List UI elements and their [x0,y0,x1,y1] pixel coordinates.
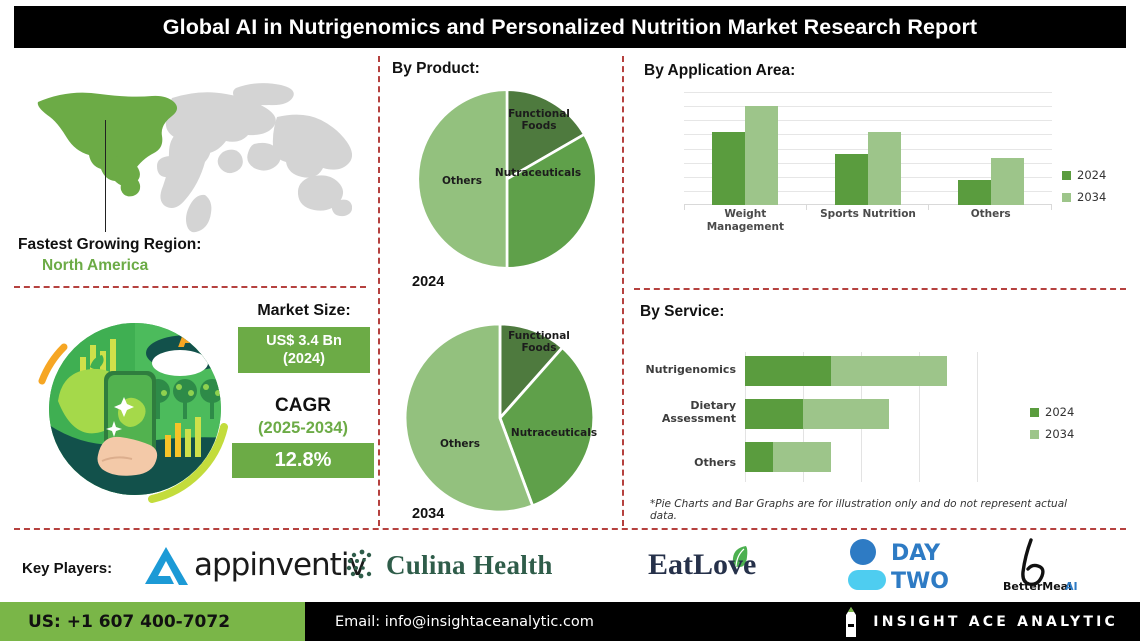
service-legend-item-2024: 2024 [1030,405,1074,419]
bar-weight-management-2024 [712,132,745,205]
logo-appinventiv-text: appinventiv [194,547,366,583]
logo-culina-health: Culina Health [345,548,553,582]
key-players-label: Key Players: [22,560,112,577]
fastest-region-label: Fastest Growing Region: [18,236,318,254]
svg-text:AI: AI [1065,580,1078,593]
svg-text:TWO: TWO [891,569,949,594]
legend-label-2034: 2034 [1077,190,1106,204]
service-legend-swatch-2034 [1030,430,1039,439]
world-map [22,72,352,237]
footer-phone-block: US: +1 607 400-7072 [0,602,305,641]
divider-horizontal-bottom [14,528,1126,530]
bar-others-2034 [991,158,1024,205]
section-title-by-service: By Service: [640,303,724,321]
bar-group-weight-management [684,92,807,205]
pie-2024-label-functional-foods: Functional Foods [500,108,578,132]
service-stacked-bar-chart [745,352,977,476]
legend-swatch-2024 [1062,171,1071,180]
appinventiv-mark-icon [140,543,192,587]
bar-group-others [929,92,1052,205]
ai-nutrition-illustration: AI [28,305,242,517]
legend-item-2034: 2034 [1062,190,1106,204]
application-area-legend: 2024 2034 [1062,168,1106,204]
logo-daytwo: DAY TWO [845,538,973,594]
stacked-seg-others-2024 [745,442,773,472]
pie-2034-year: 2034 [412,506,444,522]
logo-eatlove: EatLove [648,548,750,582]
fastest-growing-region: Fastest Growing Region: North America [18,236,318,275]
pie-2034-label-functional-foods: Functional Foods [500,330,578,354]
pie-2024-year: 2024 [412,274,444,290]
market-size-title: Market Size: [238,302,370,320]
bar-weight-management-2034 [745,106,778,205]
service-legend-swatch-2024 [1030,408,1039,417]
stacked-seg-dietary-2034 [803,399,889,429]
service-label-nutrigenomics: Nutrigenomics [636,363,736,376]
market-size-value-box: US$ 3.4 Bn (2024) [238,327,370,373]
svg-text:BetterMeal: BetterMeal [1003,580,1072,593]
culina-mark-icon [345,548,379,582]
stacked-seg-dietary-2024 [745,399,803,429]
legend-swatch-2034 [1062,193,1071,202]
section-title-by-product: By Product: [392,60,480,78]
pie-2024-label-others: Others [430,175,494,187]
category-label-weight-management: Weight Management [684,208,807,234]
legend-label-2024: 2024 [1077,168,1106,182]
footer-bar: US: +1 607 400-7072 Email: info@insighta… [0,602,1140,641]
logo-appinventiv: appinventiv [140,543,366,587]
category-label-others: Others [929,208,1052,234]
divider-vertical-right [622,56,624,526]
daytwo-mark-icon: DAY TWO [845,538,973,594]
chart-disclaimer-note: *Pie Charts and Bar Graphs are for illus… [650,498,1070,522]
bar-others-2024 [958,180,991,205]
cagr-years: (2025-2034) [232,419,374,438]
insightace-logo-icon [841,607,861,637]
footer-phone: US: +1 607 400-7072 [28,612,230,632]
application-area-bar-chart [684,92,1052,205]
cagr-title: CAGR [232,395,374,417]
market-size-block: Market Size: US$ 3.4 Bn (2024) [238,302,370,373]
svg-text:DAY: DAY [891,541,941,566]
category-label-sports-nutrition: Sports Nutrition [807,208,930,234]
service-legend-label-2024: 2024 [1045,405,1074,419]
divider-vertical-left [378,56,380,526]
infographic-page: Global AI in Nutrigenomics and Personali… [0,0,1140,641]
footer-brand: INSIGHT ACE ANALYTIC [841,607,1118,637]
page-title: Global AI in Nutrigenomics and Personali… [163,15,977,40]
footer-brand-name: INSIGHT ACE ANALYTIC [873,614,1118,630]
map-leader-line [105,120,106,232]
bar-sports-nutrition-2024 [835,154,868,205]
service-legend: 2024 2034 [1030,405,1074,441]
service-label-dietary-assessment: Dietary Assessment [636,399,736,425]
logo-culina-text: Culina Health [386,550,553,581]
cagr-value-box: 12.8% [232,443,374,478]
header-bar: Global AI in Nutrigenomics and Personali… [14,6,1126,48]
pie-2034-label-nutraceuticals: Nutraceuticals [505,427,603,439]
bar-sports-nutrition-2034 [868,132,901,205]
service-legend-label-2034: 2034 [1045,427,1074,441]
stacked-seg-nutrigenomics-2024 [745,356,831,386]
svg-text:AI: AI [178,320,212,355]
bar-group-sports-nutrition [807,92,930,205]
stacked-bar-nutrigenomics [745,356,977,386]
service-legend-item-2034: 2034 [1030,427,1074,441]
market-size-year: (2024) [283,350,325,368]
stacked-bar-dietary-assessment [745,399,977,429]
stacked-bar-others [745,442,977,472]
footer-email[interactable]: Email: info@insightaceanalytic.com [335,614,594,630]
pie-2024-label-nutraceuticals: Nutraceuticals [490,167,586,179]
application-area-category-labels: Weight Management Sports Nutrition Other… [684,208,1052,234]
service-label-others: Others [636,456,736,469]
section-title-by-application: By Application Area: [644,62,795,80]
bettermeal-mark-icon: BetterMeal AI [985,538,1095,594]
stacked-seg-nutrigenomics-2034 [831,356,947,386]
stacked-seg-others-2034 [773,442,831,472]
legend-item-2024: 2024 [1062,168,1106,182]
cagr-value: 12.8% [275,449,332,472]
divider-horizontal-right [634,288,1126,290]
logo-bettermeal-ai: BetterMeal AI [985,538,1095,594]
logo-eatlove-text: EatLove [648,548,756,582]
footer-contact-block: Email: info@insightaceanalytic.com INSIG… [305,602,1140,641]
pie-2034-label-others: Others [428,438,492,450]
fastest-region-value: North America [42,257,318,275]
divider-horizontal-left [14,286,366,288]
market-size-value: US$ 3.4 Bn [266,332,342,350]
cagr-block: CAGR (2025-2034) 12.8% [232,395,374,478]
